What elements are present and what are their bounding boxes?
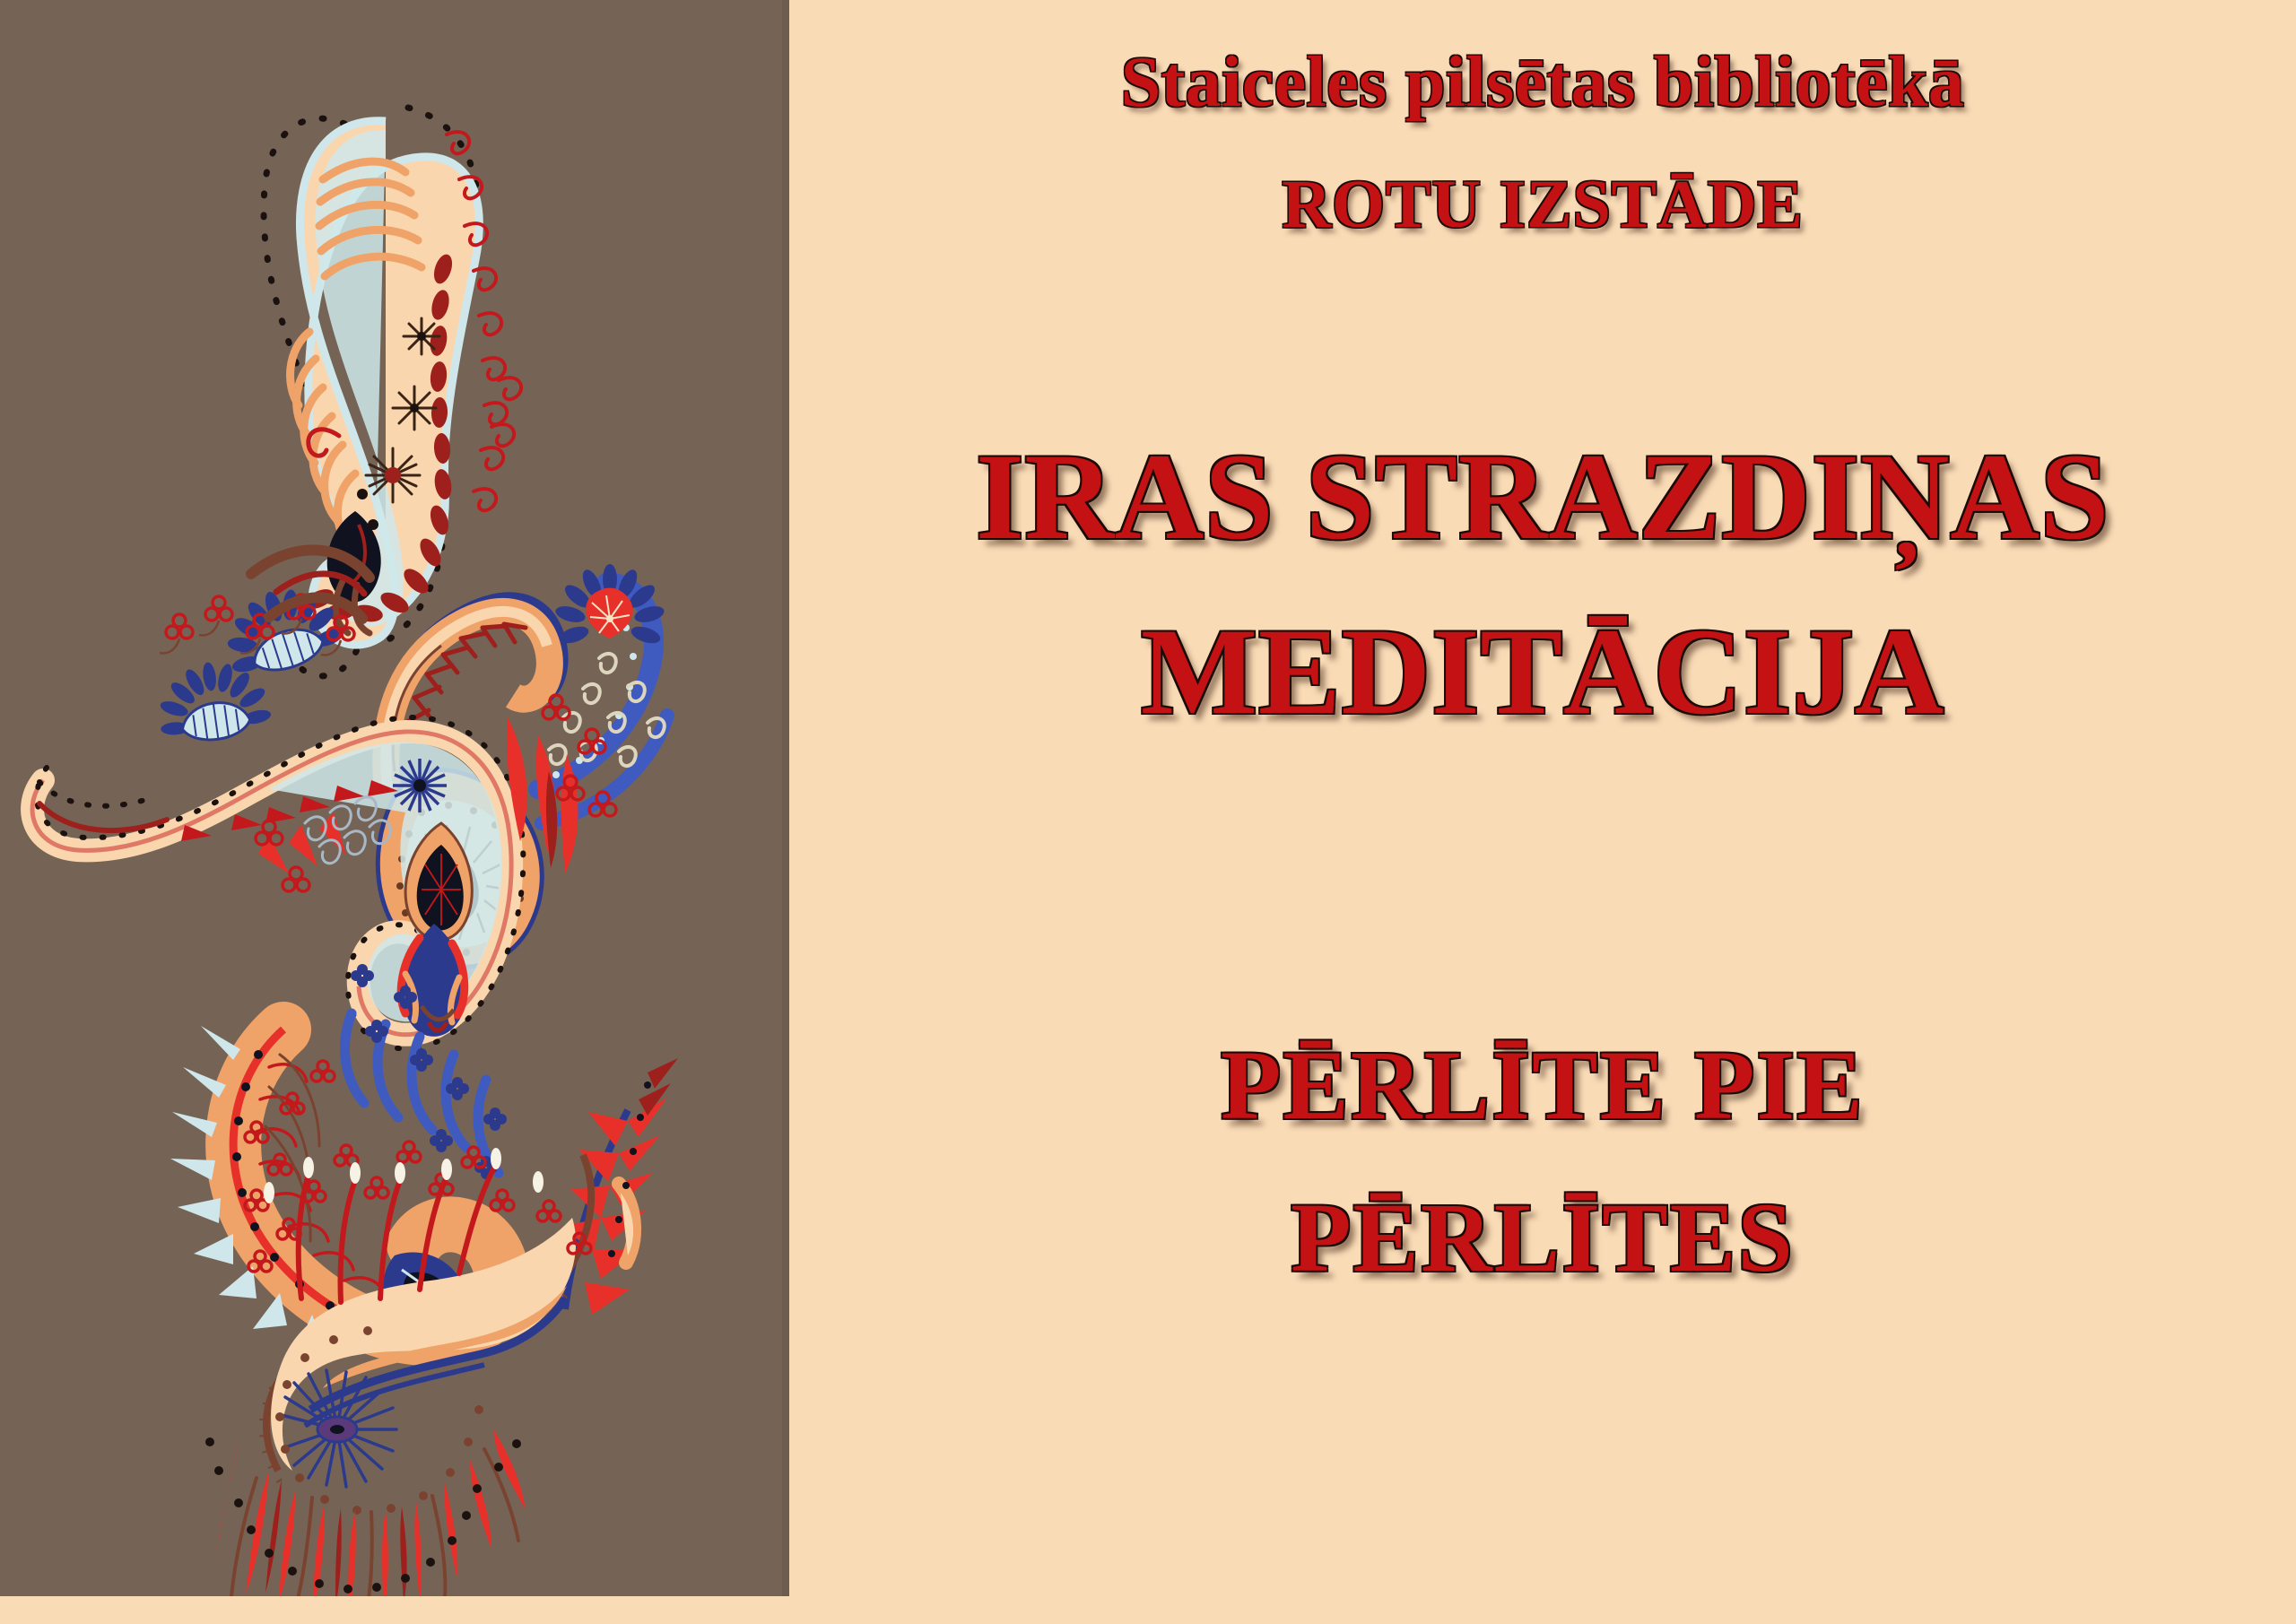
subtitle-line-1: PĒRLĪTE PIE (789, 1036, 2296, 1134)
panel-edge-divider (782, 0, 789, 1596)
event-line: ROTU IZSTĀDE (789, 170, 2296, 239)
poster-canvas: Staiceles pilsētas bibliotēkā ROTU IZSTĀ… (0, 0, 2296, 1624)
exhibition-title: MEDITĀCIJA (789, 610, 2296, 734)
subtitle-line-2: PĒRLĪTES (789, 1188, 2296, 1287)
decorative-art-panel (0, 0, 789, 1596)
artist-name: IRAS STRAZDIŅAS (789, 435, 2296, 559)
poster-text-column: Staiceles pilsētas bibliotēkā ROTU IZSTĀ… (789, 0, 2296, 1624)
venue-line: Staiceles pilsētas bibliotēkā (789, 47, 2296, 118)
paisley-ornament-illustration (0, 0, 789, 1596)
